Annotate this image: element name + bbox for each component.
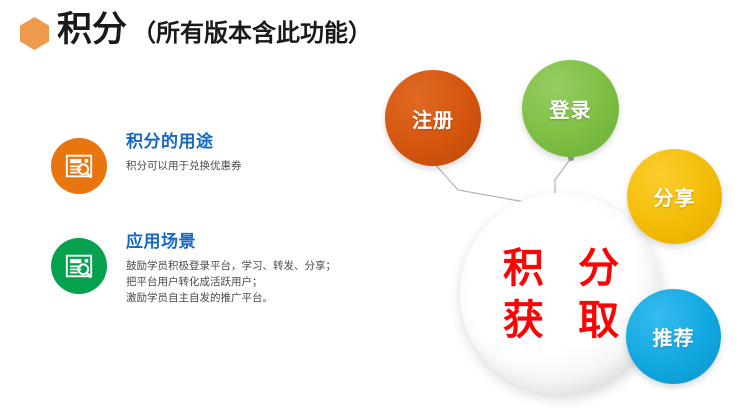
feature-desc-line: 把平台用户转化成活跃用户；: [126, 274, 366, 290]
bubble-node-login[interactable]: 登录: [522, 60, 619, 157]
feature-text-block: 积分的用途 积分可以用于兑换优惠券: [126, 130, 366, 174]
bubble-node-recommend[interactable]: 推荐: [626, 289, 721, 384]
hexagon-icon: [20, 17, 49, 50]
center-node-line: 积 分: [493, 242, 629, 294]
feature-description: 鼓励学员积极登录平台，学习、转发、分享； 把平台用户转化成活跃用户； 激励学员自…: [126, 258, 366, 306]
center-node-points-acquisition[interactable]: 积 分 获 取: [460, 193, 662, 395]
bubble-node-share[interactable]: 分享: [627, 149, 722, 244]
page-title: 积分 （所有版本含此功能）: [57, 9, 372, 53]
feature-title: 应用场景: [126, 230, 366, 254]
feature-desc-line: 激励学员自主自发的推广平台。: [126, 290, 366, 306]
feature-description: 积分可以用于兑换优惠券: [126, 158, 366, 174]
page-title-sub: （所有版本含此功能）: [132, 18, 372, 48]
feature-desc-line: 积分可以用于兑换优惠券: [126, 158, 366, 174]
feature-title: 积分的用途: [126, 130, 366, 154]
feature-text-block: 应用场景 鼓励学员积极登录平台，学习、转发、分享； 把平台用户转化成活跃用户； …: [126, 230, 366, 306]
document-search-icon: [51, 138, 107, 194]
page-title-main: 积分: [57, 9, 127, 53]
center-node-line: 获 取: [493, 294, 629, 346]
bubble-diagram: 积 分 获 取 注册 登录 分享 推荐: [355, 50, 750, 416]
bubble-node-register[interactable]: 注册: [385, 70, 481, 166]
document-search-icon: [51, 238, 107, 294]
feature-desc-line: 鼓励学员积极登录平台，学习、转发、分享；: [126, 258, 366, 274]
